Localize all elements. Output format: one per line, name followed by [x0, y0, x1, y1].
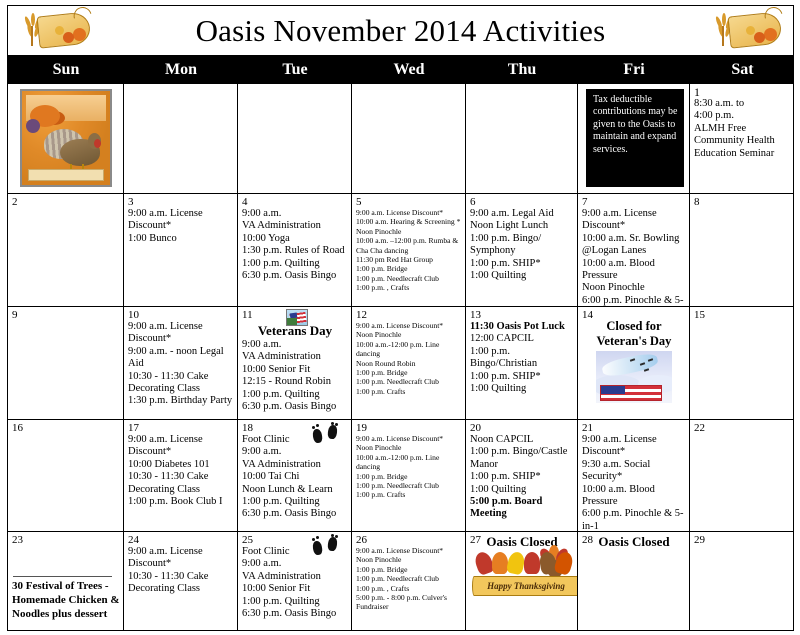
- day-number: 6: [470, 196, 574, 208]
- day-number: 12: [356, 309, 462, 321]
- day-number: 13: [470, 309, 574, 321]
- week-row: 16 17 9:00 a.m. License Discount* 10:00 …: [8, 420, 793, 532]
- thanksgiving-banner: Happy Thanksgiving: [470, 552, 578, 600]
- day-number: 16: [12, 422, 120, 434]
- day-cell[interactable]: [124, 84, 238, 193]
- day-number: 4: [242, 196, 348, 208]
- turkey-picture: [20, 89, 112, 187]
- day-number: 24: [128, 534, 234, 546]
- day-number: 15: [694, 309, 792, 321]
- day-events: 9:00 a.m. License Discount* 9:30 a.m. So…: [582, 434, 686, 531]
- holiday-label: Oasis Closed: [582, 534, 686, 550]
- day-events: 9:00 a.m. License Discount* Noon Pinochl…: [356, 546, 462, 612]
- calendar-title-bar: Oasis November 2014 Activities: [7, 5, 794, 55]
- day-events: 9:00 a.m. License Discount* 10:00 a.m. S…: [582, 208, 686, 306]
- day-number: 29: [694, 534, 792, 546]
- potluck-highlight: 11:30 Oasis Pot Luck: [470, 321, 574, 333]
- day-events: 9:00 a.m. License Discount* 9:00 a.m. - …: [128, 321, 234, 408]
- day-cell[interactable]: 14 Closed for Veteran's Day: [578, 307, 690, 419]
- footprints-icon: [311, 423, 345, 447]
- day-events: 9:00 a.m. License Discount* 10:00 a.m. H…: [356, 208, 462, 293]
- day-events: 9:00 a.m. License Discount* Noon Pinochl…: [356, 321, 462, 396]
- week-row: 9 10 9:00 a.m. License Discount* 9:00 a.…: [8, 307, 793, 420]
- weekday-sun: Sun: [8, 55, 124, 84]
- day-events: 9:00 a.m. License Discount* Noon Pinochl…: [356, 434, 462, 500]
- tax-notice-text: Tax deductible contributions may be give…: [593, 94, 678, 156]
- day-cell[interactable]: 12 9:00 a.m. License Discount* Noon Pino…: [352, 307, 466, 419]
- day-cell[interactable]: 26 9:00 a.m. License Discount* Noon Pino…: [352, 532, 466, 630]
- day-cell[interactable]: 21 9:00 a.m. License Discount* 9:30 a.m.…: [578, 420, 690, 531]
- weekday-thu: Thu: [466, 55, 578, 84]
- weekday-tue: Tue: [238, 55, 352, 84]
- day-number: 9: [12, 309, 120, 321]
- day-number: 20: [470, 422, 574, 434]
- day-number: 7: [582, 196, 686, 208]
- day-number: 1: [694, 86, 792, 98]
- weekday-mon: Mon: [124, 55, 238, 84]
- day-cell[interactable]: 4 9:00 a.m. VA Administration 10:00 Yoga…: [238, 194, 352, 306]
- week-row: Tax deductible contributions may be give…: [8, 84, 793, 194]
- footprints-icon: [311, 535, 345, 559]
- day-cell[interactable]: 23 30 Festival of Trees - Homemade Chick…: [8, 532, 124, 630]
- day-events: 9:00 a.m. VA Administration 10:00 Yoga 1…: [242, 208, 348, 282]
- weekday-fri: Fri: [578, 55, 690, 84]
- day-events: 9:00 a.m. License Discount* 1:00 Bunco: [128, 208, 234, 245]
- day-cell[interactable]: 8: [690, 194, 795, 306]
- day-number: 19: [356, 422, 462, 434]
- day-cell-notice[interactable]: Tax deductible contributions may be give…: [578, 84, 690, 193]
- day-events: 12:00 CAPCIL 1:00 p.m. Bingo/Christian 1…: [470, 333, 574, 395]
- day-cell[interactable]: 27 Oasis Closed Happy Thanksgivi: [466, 532, 578, 630]
- festival-note: 30 Festival of Trees - Homemade Chicken …: [12, 579, 120, 621]
- day-cell[interactable]: [466, 84, 578, 193]
- day-number: 23: [12, 534, 120, 546]
- banner-text: Happy Thanksgiving: [487, 581, 565, 591]
- day-cell[interactable]: 5 9:00 a.m. License Discount* 10:00 a.m.…: [352, 194, 466, 306]
- day-number: 2: [12, 196, 120, 208]
- day-cell[interactable]: 17 9:00 a.m. License Discount* 10:00 Dia…: [124, 420, 238, 531]
- day-cell[interactable]: 15: [690, 307, 795, 419]
- board-meeting-highlight: 5:00 p.m. Board Meeting: [470, 496, 574, 521]
- day-cell[interactable]: 29: [690, 532, 795, 630]
- day-number: 10: [128, 309, 234, 321]
- day-events: Foot Clinic 9:00 a.m. VA Administration …: [242, 434, 348, 521]
- day-cell[interactable]: [8, 84, 124, 193]
- day-events: 9:00 a.m. License Discount* 10:30 - 11:3…: [128, 546, 234, 596]
- day-cell[interactable]: 2: [8, 194, 124, 306]
- day-cell[interactable]: 10 9:00 a.m. License Discount* 9:00 a.m.…: [124, 307, 238, 419]
- day-number: 21: [582, 422, 686, 434]
- page-title: Oasis November 2014 Activities: [196, 13, 606, 49]
- cornucopia-icon: [709, 8, 783, 54]
- weekday-header-row: Sun Mon Tue Wed Thu Fri Sat: [7, 55, 794, 84]
- day-cell[interactable]: 9: [8, 307, 124, 419]
- week-row: 2 3 9:00 a.m. License Discount* 1:00 Bun…: [8, 194, 793, 307]
- day-number: 26: [356, 534, 462, 546]
- day-cell[interactable]: [352, 84, 466, 193]
- day-cell[interactable]: [238, 84, 352, 193]
- day-cell[interactable]: 1 8:30 a.m. to 4:00 p.m. ALMH Free Commu…: [690, 84, 795, 193]
- day-cell[interactable]: 25 Foot Clinic 9:00 a.m. VA Administrati…: [238, 532, 352, 630]
- day-cell[interactable]: 11 Veterans Day 9:00 a.m. VA Administrat…: [238, 307, 352, 419]
- day-cell[interactable]: 3 9:00 a.m. License Discount* 1:00 Bunco: [124, 194, 238, 306]
- cell-divider: [13, 576, 112, 577]
- day-cell[interactable]: 6 9:00 a.m. Legal Aid Noon Light Lunch 1…: [466, 194, 578, 306]
- week-row: 23 30 Festival of Trees - Homemade Chick…: [8, 532, 793, 630]
- tax-notice-box: Tax deductible contributions may be give…: [586, 89, 684, 187]
- day-number: 3: [128, 196, 234, 208]
- calendar-grid: Tax deductible contributions may be give…: [7, 84, 794, 631]
- holiday-label: Closed for Veteran's Day: [582, 319, 686, 349]
- day-cell[interactable]: 13 11:30 Oasis Pot Luck 12:00 CAPCIL 1:0…: [466, 307, 578, 419]
- weekday-sat: Sat: [690, 55, 795, 84]
- day-cell[interactable]: 19 9:00 a.m. License Discount* Noon Pino…: [352, 420, 466, 531]
- cornucopia-icon: [18, 8, 92, 54]
- day-events: 9:00 a.m. Legal Aid Noon Light Lunch 1:0…: [470, 208, 574, 282]
- flag-jets-picture: [596, 351, 672, 403]
- day-cell[interactable]: 18 Foot Clinic 9:00 a.m. VA Administrati…: [238, 420, 352, 531]
- day-cell[interactable]: 20 Noon CAPCIL 1:00 p.m. Bingo/Castle Ma…: [466, 420, 578, 531]
- day-events: 8:30 a.m. to 4:00 p.m. ALMH Free Communi…: [694, 98, 792, 160]
- weekday-wed: Wed: [352, 55, 466, 84]
- day-cell[interactable]: 22: [690, 420, 795, 531]
- day-cell[interactable]: 7 9:00 a.m. License Discount* 10:00 a.m.…: [578, 194, 690, 306]
- day-events: 9:00 a.m. License Discount* 10:00 Diabet…: [128, 434, 234, 508]
- day-events: 9:00 a.m. VA Administration 10:00 Senior…: [242, 339, 348, 413]
- day-events: Noon CAPCIL 1:00 p.m. Bingo/Castle Manor…: [470, 434, 574, 496]
- day-number: 5: [356, 196, 462, 208]
- day-number: 22: [694, 422, 792, 434]
- calendar-page: Oasis November 2014 Activities Sun Mon T…: [0, 0, 800, 635]
- day-cell[interactable]: 24 9:00 a.m. License Discount* 10:30 - 1…: [124, 532, 238, 630]
- day-number: 17: [128, 422, 234, 434]
- veterans-flag-icon: [286, 309, 308, 326]
- day-cell[interactable]: 28 Oasis Closed: [578, 532, 690, 630]
- day-cell[interactable]: 16: [8, 420, 124, 531]
- day-number: 8: [694, 196, 792, 208]
